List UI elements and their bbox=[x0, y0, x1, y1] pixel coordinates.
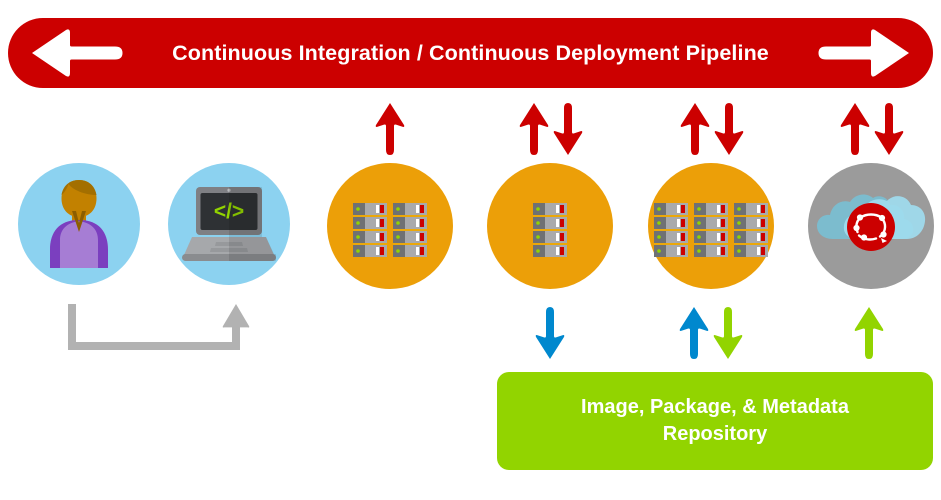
arrow-pipeline-to-prod-down bbox=[873, 102, 905, 161]
server-rack-single-icon bbox=[533, 203, 567, 257]
arrow-pipeline-to-qa-down bbox=[713, 102, 745, 161]
server-rack-double-icon bbox=[353, 203, 427, 257]
node-qa[interactable]: QA bbox=[648, 163, 774, 289]
arrow-up-icon bbox=[853, 306, 885, 360]
server-rack-triple-icon bbox=[654, 203, 768, 257]
pipeline-banner: Continuous Integration / Continuous Depl… bbox=[8, 18, 933, 88]
node-dev-build[interactable]: DEV / BUILD bbox=[487, 163, 613, 289]
arrow-down-icon bbox=[712, 306, 744, 360]
node-developer[interactable] bbox=[18, 163, 140, 285]
node-label-src-repo: SRC REPO bbox=[327, 415, 453, 429]
repository-label: Image, Package, & Metadata Repository bbox=[497, 372, 933, 470]
arrow-up-icon bbox=[518, 102, 550, 156]
arrow-down-icon bbox=[534, 306, 566, 360]
laptop-code-icon: </> bbox=[180, 185, 278, 263]
repository-label-line2: Repository bbox=[581, 421, 849, 448]
arrow-up-icon bbox=[839, 102, 871, 156]
repository-label-line1: Image, Package, & Metadata bbox=[581, 394, 849, 421]
arrow-down-icon bbox=[873, 102, 905, 156]
arrow-up-icon bbox=[679, 102, 711, 156]
arrow-dev-to-repository-down bbox=[534, 306, 566, 365]
arrow-pipeline-to-dev-down bbox=[552, 102, 584, 161]
arrow-up-icon bbox=[374, 102, 406, 156]
arrow-down-icon bbox=[713, 102, 745, 156]
cloud-openshift-icon bbox=[815, 185, 927, 255]
diagram-canvas: Continuous Integration / Continuous Depl… bbox=[0, 0, 941, 500]
arrow-down-icon bbox=[552, 102, 584, 156]
node-src-repo[interactable]: SRC REPO bbox=[327, 163, 453, 289]
arrow-qa-to-repository-down bbox=[712, 306, 744, 365]
arrow-src-to-pipeline-up bbox=[374, 102, 406, 161]
page-title: Continuous Integration / Continuous Depl… bbox=[8, 18, 933, 88]
arrow-right-icon bbox=[817, 26, 911, 80]
arrow-prod-to-pipeline-up bbox=[839, 102, 871, 161]
arrow-repository-to-qa-up bbox=[678, 306, 710, 365]
repository-box[interactable]: Image, Package, & Metadata Repository bbox=[497, 372, 933, 470]
arrow-repository-to-prod-up bbox=[853, 306, 885, 365]
developer-person-icon bbox=[38, 178, 120, 270]
node-production-ohc[interactable]: Production in OHC bbox=[808, 163, 934, 289]
arrow-up-icon bbox=[678, 306, 710, 360]
arrow-dev-to-pipeline-up bbox=[518, 102, 550, 161]
elbow-connector-arrow-icon bbox=[66, 300, 256, 360]
node-laptop[interactable]: </> bbox=[168, 163, 290, 285]
arrow-qa-to-pipeline-up bbox=[679, 102, 711, 161]
